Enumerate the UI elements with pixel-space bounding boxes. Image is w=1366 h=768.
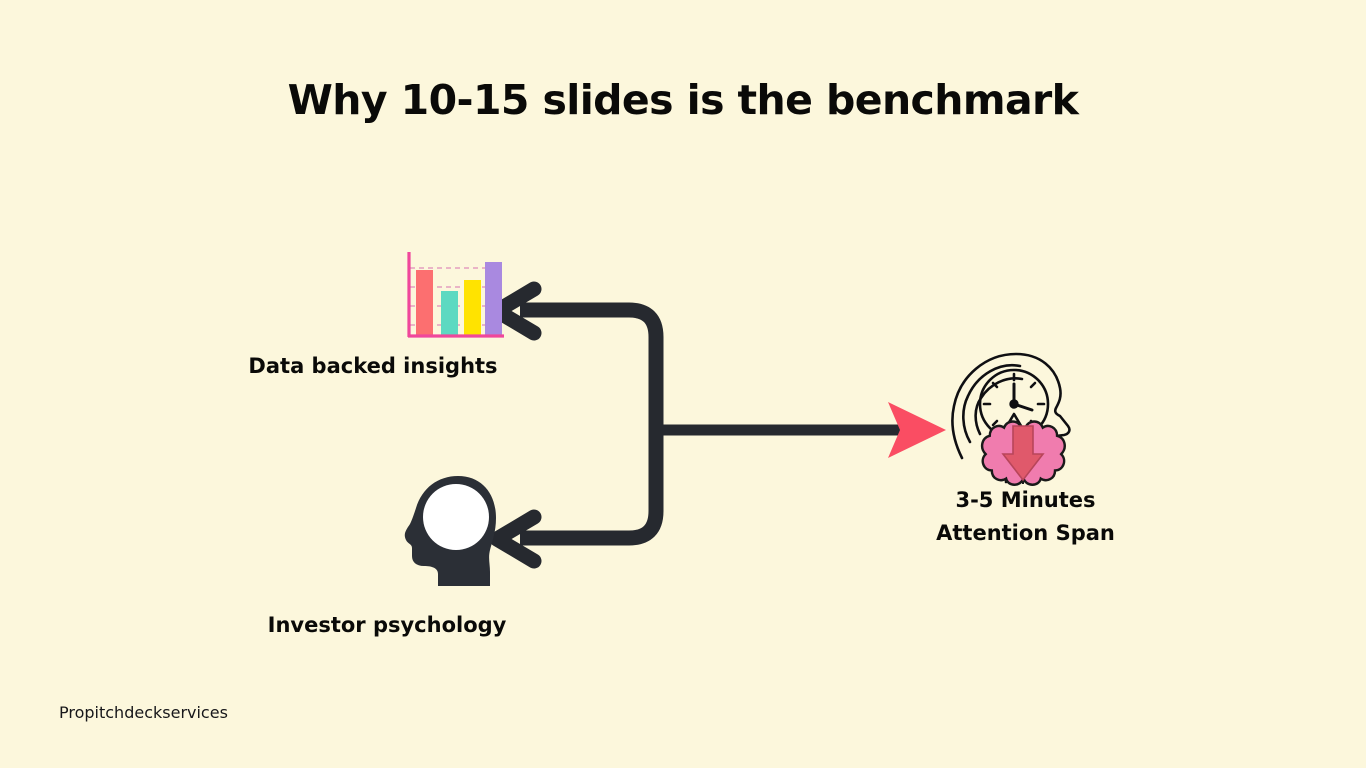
connector-trunk-path [520, 310, 656, 538]
bar-4 [485, 262, 502, 336]
node-label-attention: 3-5 Minutes Attention Span [930, 484, 1121, 550]
head-silhouette-icon [398, 474, 502, 586]
arrowhead-to-investor-icon [497, 517, 534, 561]
clock-center [1011, 401, 1018, 408]
arrowhead-to-attention-icon [888, 402, 946, 458]
bar-chart-icon [400, 248, 504, 344]
footer-brand: Propitchdeckservices [59, 703, 228, 722]
bar-3 [464, 280, 481, 336]
node-label-data-backed: Data backed insights [246, 354, 500, 378]
bar-2 [441, 291, 458, 336]
head-clock-brain-icon [948, 346, 1094, 488]
bar-1 [416, 270, 433, 336]
slide-canvas: Why 10-15 slides is the benchmark [0, 0, 1366, 768]
node-label-investor: Investor psychology [263, 613, 511, 637]
page-title: Why 10-15 slides is the benchmark [0, 76, 1366, 124]
brain-area-circle [423, 484, 489, 550]
brain-icon [982, 421, 1065, 484]
